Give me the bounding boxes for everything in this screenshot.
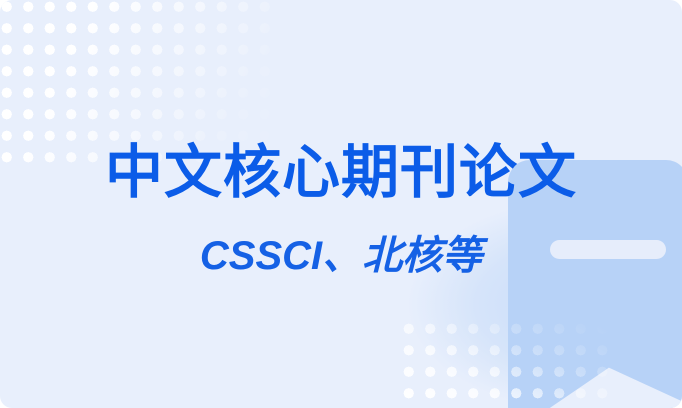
banner-subheadline: CSSCI、北核等: [0, 236, 682, 276]
banner-headline: 中文核心期刊论文: [0, 144, 682, 202]
banner-text-block: 中文核心期刊论文 CSSCI、北核等: [0, 0, 682, 408]
promo-banner: 中文核心期刊论文 CSSCI、北核等: [0, 0, 682, 408]
